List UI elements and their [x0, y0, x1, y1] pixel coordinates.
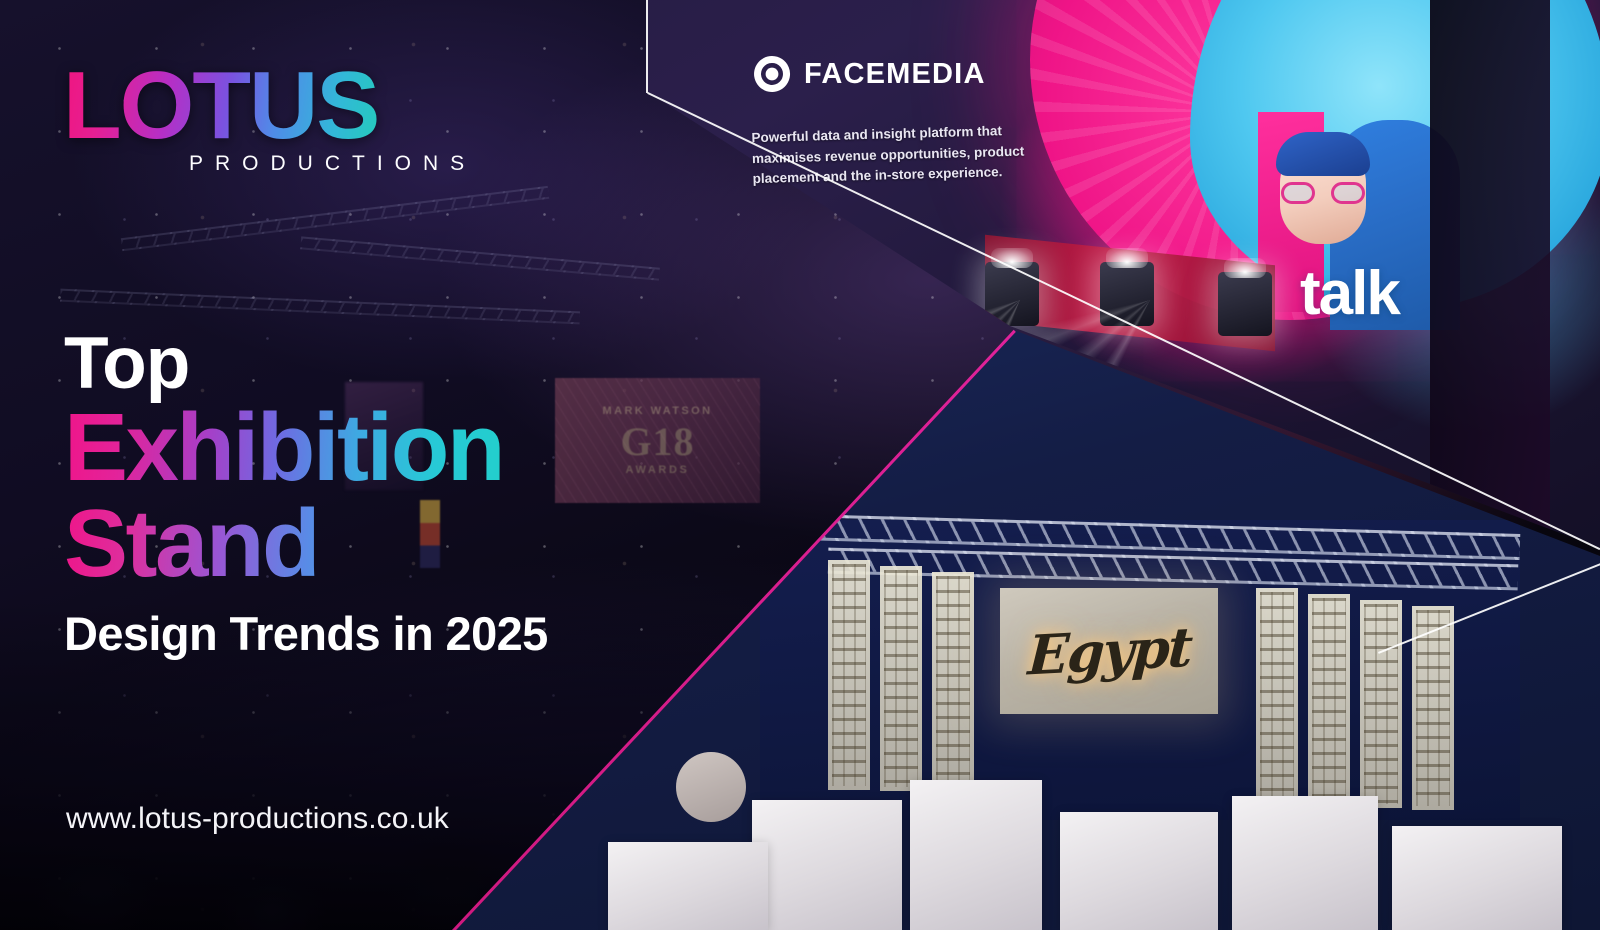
headline-line-1: Top: [64, 328, 548, 400]
hieroglyph-banner: [932, 572, 974, 792]
brand-logo[interactable]: LOTUS PRODUCTIONS: [63, 62, 476, 176]
booth-block: [1392, 826, 1562, 930]
blog-cover-poster: MARK WATSON G18 AWARDS Ste mladí vo veku…: [0, 0, 1600, 930]
awards-stage-screen: MARK WATSON G18 AWARDS: [555, 378, 760, 503]
hieroglyph-banner: [880, 566, 922, 791]
headline-line-3: Stand: [64, 496, 548, 592]
awards-screen-award-sub: AWARDS: [626, 464, 690, 476]
hieroglyph-banner: [1256, 588, 1298, 803]
website-url[interactable]: www.lotus-productions.co.uk: [66, 802, 449, 836]
booth-block: [1060, 812, 1218, 930]
facemedia-logo-row: FACEMEDIA: [752, 54, 1052, 94]
divider-line: [646, 0, 648, 93]
hieroglyph-banner: [1360, 600, 1402, 808]
page-title: Top Exhibition Stand Design Trends in 20…: [64, 328, 548, 661]
booth-block: [910, 780, 1042, 930]
brand-wordmark: LOTUS: [63, 62, 476, 150]
booth-block: [752, 800, 902, 930]
facemedia-wordmark: FACEMEDIA: [804, 58, 986, 91]
awards-screen-award: G18: [620, 422, 694, 462]
egypt-sign-text: Egypt: [1026, 615, 1192, 688]
booth-block: [1232, 796, 1378, 930]
awards-screen-name: MARK WATSON: [603, 405, 713, 417]
round-display-panel: [676, 752, 746, 822]
egypt-stand-sign: Egypt: [1000, 588, 1218, 714]
headline-subline: Design Trends in 2025: [64, 606, 548, 661]
hieroglyph-banner: [1308, 594, 1350, 806]
hieroglyph-banner: [828, 560, 870, 790]
facemedia-circle-icon: [752, 54, 792, 94]
booth-block: [608, 842, 768, 930]
facemedia-body-copy: Powerful data and insight platform that …: [751, 120, 1053, 190]
headline-line-2: Exhibition: [64, 400, 548, 496]
